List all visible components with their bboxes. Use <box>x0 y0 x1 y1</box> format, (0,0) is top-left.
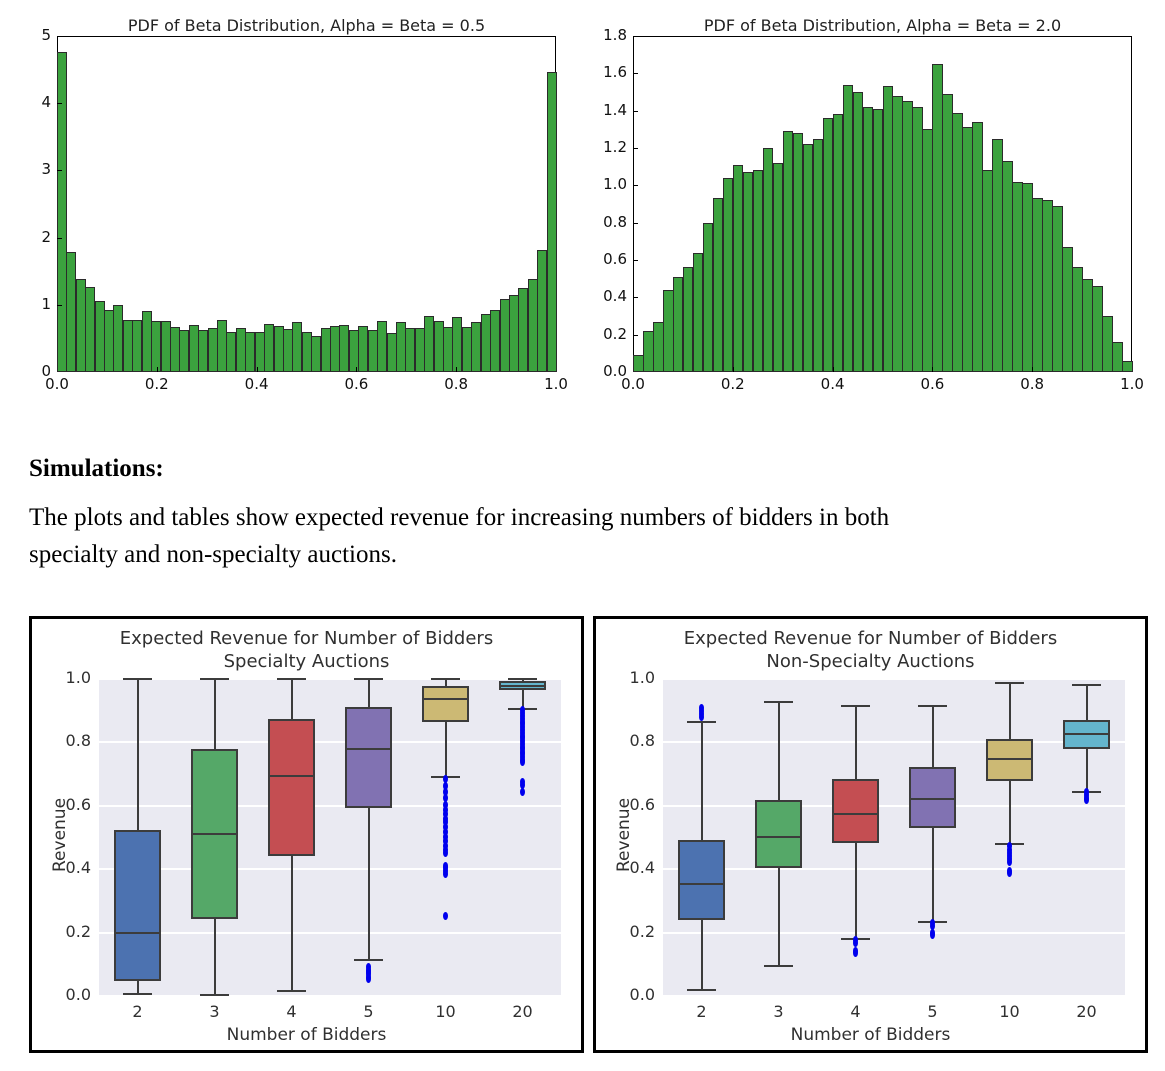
x-axis-tick-mark <box>932 367 933 372</box>
histogram-bar <box>683 267 694 372</box>
histogram-bar <box>922 129 933 372</box>
y-axis-tick-label: 0.4 <box>597 287 627 305</box>
x-axis-tick-label: 0.2 <box>139 375 175 393</box>
gridline <box>99 932 561 934</box>
histogram-bar <box>992 139 1003 372</box>
histogram-bar <box>653 322 664 372</box>
y-axis-tick-mark <box>57 305 62 306</box>
whisker-cap <box>995 682 1024 684</box>
y-axis-tick-label: 1.6 <box>597 63 627 81</box>
whisker-cap <box>918 705 947 707</box>
median-line <box>499 685 547 687</box>
whisker-cap <box>277 678 306 680</box>
hist-right-title: PDF of Beta Distribution, Alpha = Beta =… <box>633 16 1132 35</box>
outlier-point <box>699 713 704 721</box>
median-line <box>114 932 162 934</box>
outlier-point <box>1007 869 1012 877</box>
y-axis-tick-label: 1.4 <box>597 101 627 119</box>
bp-y-tick-label: 0.6 <box>45 795 91 814</box>
bp-x-tick-label: 4 <box>267 1002 317 1021</box>
gridline <box>663 678 1125 680</box>
specialty-boxplot-panel: Expected Revenue for Number of Bidders S… <box>29 616 584 1053</box>
boxplot-box <box>345 707 393 808</box>
histogram-bar <box>873 109 884 372</box>
median-line <box>986 758 1034 760</box>
y-axis-tick-mark <box>633 260 638 261</box>
bp-x-tick-label: 20 <box>498 1002 548 1021</box>
histogram-bar <box>813 139 824 372</box>
histogram-bar <box>713 198 724 372</box>
histogram-bar <box>902 101 913 372</box>
x-axis-tick-label: 0.8 <box>1014 375 1050 393</box>
histogram-bar <box>723 178 734 372</box>
bp-right-title: Expected Revenue for Number of Bidders N… <box>596 628 1145 673</box>
bp-y-tick-label: 0.8 <box>45 731 91 750</box>
y-axis-tick-label: 0.6 <box>597 250 627 268</box>
boxplot-box <box>422 686 470 722</box>
whisker-cap <box>1072 684 1101 686</box>
gridline <box>99 995 561 997</box>
histogram-bar <box>1082 279 1093 372</box>
hist-left-bars <box>57 36 556 372</box>
y-axis-tick-label: 1.8 <box>597 26 627 44</box>
x-axis-tick-label: 0.4 <box>239 375 275 393</box>
bp-right-xlabel: Number of Bidders <box>596 1025 1145 1045</box>
histogram-bar <box>853 92 864 372</box>
hist-right-axes <box>633 36 1132 372</box>
histogram-bar <box>763 148 774 372</box>
bp-left-plot-area <box>99 678 561 995</box>
y-axis-tick-label: 4 <box>37 93 51 111</box>
x-axis-tick-label: 0.4 <box>815 375 851 393</box>
y-axis-tick-mark <box>633 111 638 112</box>
median-line <box>422 698 470 700</box>
bp-y-tick-label: 0.2 <box>609 922 655 941</box>
gridline <box>663 741 1125 743</box>
simulations-body-line-1: The plots and tables show expected reven… <box>29 500 1139 536</box>
x-axis-tick-label: 0.6 <box>338 375 374 393</box>
histogram-bar <box>1062 247 1073 372</box>
y-axis-tick-mark <box>633 335 638 336</box>
bp-y-tick-label: 1.0 <box>609 668 655 687</box>
x-axis-tick-label: 0.0 <box>615 375 651 393</box>
bp-x-tick-label: 2 <box>113 1002 163 1021</box>
bp-y-tick-label: 0.0 <box>45 985 91 1004</box>
bp-left-title: Expected Revenue for Number of Bidders S… <box>32 628 581 673</box>
x-axis-tick-mark <box>356 367 357 372</box>
boxplot-box <box>986 739 1034 781</box>
bp-right-title-line1: Expected Revenue for Number of Bidders <box>684 628 1057 649</box>
whisker-cap <box>200 994 229 996</box>
histogram-bar <box>783 131 794 372</box>
gridline <box>663 995 1125 997</box>
histogram-bar <box>753 170 764 372</box>
bp-x-tick-label: 4 <box>831 1002 881 1021</box>
simulations-heading: Simulations: <box>29 455 164 483</box>
y-axis-tick-label: 0.2 <box>597 325 627 343</box>
histogram-bar <box>1072 267 1083 372</box>
histogram-bar <box>1112 342 1123 372</box>
gridline <box>663 932 1125 934</box>
y-axis-tick-label: 1 <box>37 295 51 313</box>
boxplot-box <box>678 840 726 921</box>
y-axis-tick-mark <box>57 170 62 171</box>
boxplot-box <box>268 719 316 855</box>
median-line <box>755 836 803 838</box>
x-axis-tick-mark <box>257 367 258 372</box>
y-axis-tick-label: 3 <box>37 160 51 178</box>
gridline <box>99 741 561 743</box>
bp-right-plot-area <box>663 678 1125 995</box>
x-axis-tick-mark <box>1032 367 1033 372</box>
gridline <box>663 805 1125 807</box>
whisker-cap <box>764 701 793 703</box>
histogram-bar <box>942 94 953 372</box>
bp-x-tick-label: 3 <box>754 1002 804 1021</box>
whisker-cap <box>123 993 152 995</box>
x-axis-tick-label: 0.2 <box>715 375 751 393</box>
median-line <box>268 775 316 777</box>
y-axis-tick-mark <box>633 185 638 186</box>
x-axis-tick-mark <box>733 367 734 372</box>
y-axis-tick-label: 1.2 <box>597 138 627 156</box>
beta-pdf-two-figure: PDF of Beta Distribution, Alpha = Beta =… <box>585 0 1165 410</box>
bp-x-tick-label: 10 <box>421 1002 471 1021</box>
bp-x-tick-label: 5 <box>908 1002 958 1021</box>
histogram-bar <box>793 133 804 372</box>
y-axis-tick-mark <box>57 103 62 104</box>
outlier-point <box>1084 796 1089 804</box>
x-axis-tick-label: 1.0 <box>1114 375 1150 393</box>
whisker-cap <box>841 705 870 707</box>
y-axis-tick-mark <box>633 297 638 298</box>
x-axis-tick-label: 0.6 <box>914 375 950 393</box>
histogram-bar <box>1002 161 1013 372</box>
simulations-body-line-2: specialty and non-specialty auctions. <box>29 537 1139 573</box>
histogram-bar <box>1102 316 1113 372</box>
bp-left-title-line2: Specialty Auctions <box>224 651 390 672</box>
whisker-cap <box>200 678 229 680</box>
bp-right-title-line2: Non-Specialty Auctions <box>766 651 974 672</box>
boxplot-box <box>114 830 162 981</box>
y-axis-tick-mark <box>633 73 638 74</box>
histogram-bar <box>1012 182 1023 372</box>
median-line <box>832 813 880 815</box>
bp-y-tick-label: 0.2 <box>45 922 91 941</box>
y-axis-tick-mark <box>633 223 638 224</box>
outlier-point <box>520 758 525 766</box>
beta-pdf-half-figure: PDF of Beta Distribution, Alpha = Beta =… <box>0 0 580 410</box>
histogram-bar <box>1122 361 1133 372</box>
histogram-bar <box>823 118 834 372</box>
bp-left-title-line1: Expected Revenue for Number of Bidders <box>120 628 493 649</box>
histogram-bar <box>863 107 874 372</box>
histogram-bar <box>972 122 983 372</box>
outlier-point <box>443 912 448 920</box>
whisker-cap <box>687 989 716 991</box>
bp-y-tick-label: 0.0 <box>609 985 655 1004</box>
x-axis-tick-mark <box>157 367 158 372</box>
y-axis-tick-label: 1.0 <box>597 175 627 193</box>
non-specialty-boxplot-panel: Expected Revenue for Number of Bidders N… <box>593 616 1148 1053</box>
boxplot-box <box>832 779 880 843</box>
bp-y-tick-label: 0.4 <box>45 858 91 877</box>
bp-y-tick-label: 1.0 <box>45 668 91 687</box>
bp-x-tick-label: 10 <box>985 1002 1035 1021</box>
whisker-cap <box>277 990 306 992</box>
whisker-cap <box>123 678 152 680</box>
y-axis-tick-mark <box>633 148 638 149</box>
x-axis-tick-mark <box>456 367 457 372</box>
hist-left-axes <box>57 36 556 372</box>
y-axis-tick-mark <box>57 238 62 239</box>
bp-left-xlabel: Number of Bidders <box>32 1025 581 1045</box>
bp-y-tick-label: 0.4 <box>609 858 655 877</box>
boxplot-box <box>755 800 803 868</box>
bp-y-tick-label: 0.8 <box>609 731 655 750</box>
histogram-bar <box>643 331 654 372</box>
median-line <box>191 833 239 835</box>
median-line <box>345 748 393 750</box>
whisker-cap <box>431 678 460 680</box>
histogram-bar <box>962 127 973 372</box>
histogram-bar <box>673 277 684 372</box>
outlier-point <box>443 849 448 857</box>
histogram-bar <box>1042 200 1053 372</box>
whisker-cap <box>354 678 383 680</box>
histogram-bar <box>932 64 943 372</box>
bp-x-tick-label: 5 <box>344 1002 394 1021</box>
x-axis-tick-label: 0.8 <box>438 375 474 393</box>
outlier-point <box>443 870 448 878</box>
whisker-cap <box>764 965 793 967</box>
whisker-cap <box>354 959 383 961</box>
histogram-bar <box>833 114 844 372</box>
hist-left-title: PDF of Beta Distribution, Alpha = Beta =… <box>57 16 556 35</box>
bp-x-tick-label: 2 <box>677 1002 727 1021</box>
histogram-bar <box>1032 198 1043 372</box>
y-axis-tick-label: 5 <box>37 26 51 44</box>
x-axis-tick-label: 0.0 <box>39 375 75 393</box>
x-axis-tick-label: 1.0 <box>538 375 574 393</box>
whisker-cap <box>687 721 716 723</box>
boxplot-box <box>909 767 957 828</box>
y-axis-tick-label: 0.8 <box>597 213 627 231</box>
histogram-bar <box>892 96 903 372</box>
histogram-bar <box>693 253 704 372</box>
gridline <box>663 868 1125 870</box>
bp-x-tick-label: 20 <box>1062 1002 1112 1021</box>
median-line <box>909 798 957 800</box>
hist-right-bars <box>633 36 1132 372</box>
gridline <box>99 868 561 870</box>
median-line <box>1063 733 1111 735</box>
median-line <box>678 883 726 885</box>
y-axis-tick-label: 2 <box>37 228 51 246</box>
gridline <box>99 678 561 680</box>
x-axis-tick-mark <box>833 367 834 372</box>
bp-x-tick-label: 3 <box>190 1002 240 1021</box>
histogram-bar <box>547 72 557 372</box>
histogram-bar <box>743 172 754 372</box>
gridline <box>99 805 561 807</box>
bp-y-tick-label: 0.6 <box>609 795 655 814</box>
